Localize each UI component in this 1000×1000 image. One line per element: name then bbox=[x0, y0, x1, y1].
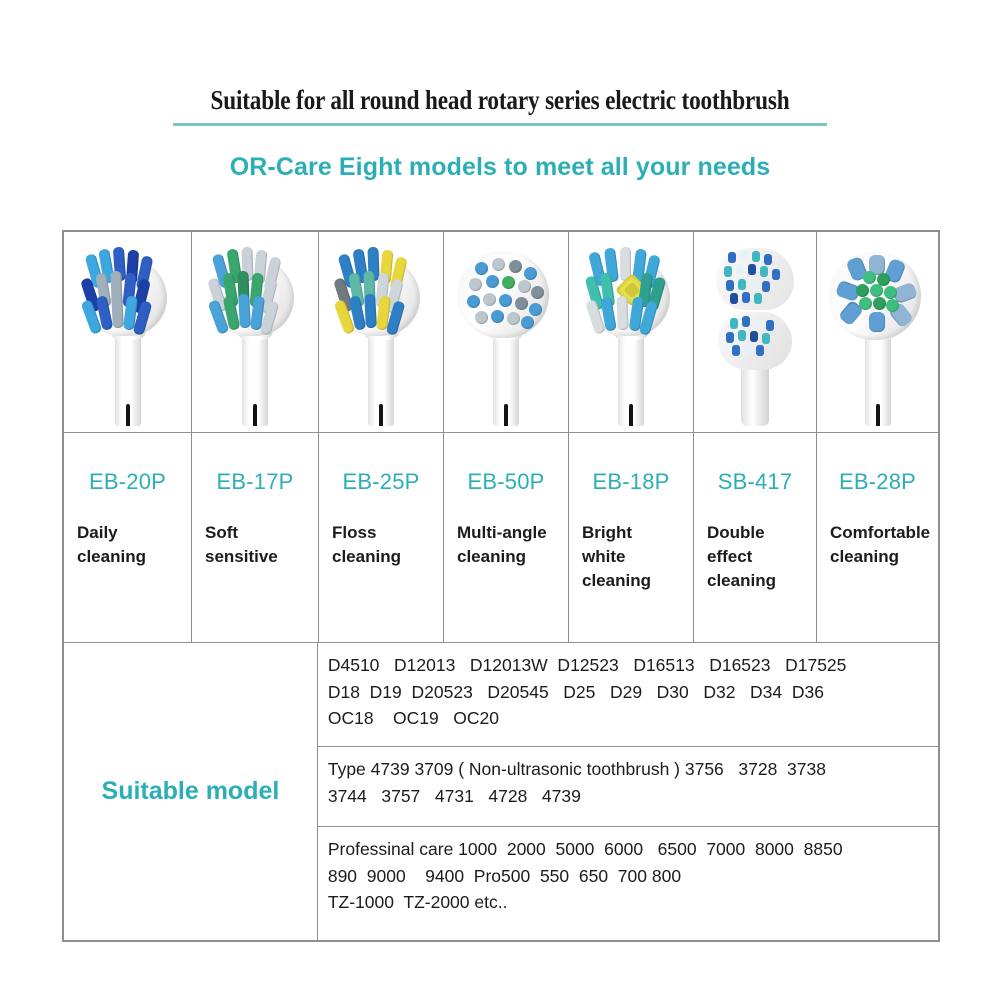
model-desc-line: cleaning bbox=[77, 545, 191, 569]
model-desc-line: cleaning bbox=[582, 569, 693, 593]
model-code-eb-25p: EB-25P bbox=[319, 433, 443, 495]
toothbrush-head-eb-17p-icon bbox=[196, 240, 314, 426]
model-cell-eb-28p: EB-28P Comfortable cleaning bbox=[817, 433, 938, 642]
product-image-cell-eb-28p bbox=[817, 232, 938, 432]
model-desc-line: cleaning bbox=[457, 545, 568, 569]
model-desc-line: sensitive bbox=[205, 545, 318, 569]
model-code-sb-417: SB-417 bbox=[694, 433, 816, 495]
model-desc-line: Floss bbox=[332, 521, 443, 545]
model-cell-eb-20p: EB-20P Daily cleaning bbox=[64, 433, 192, 642]
model-desc-line: effect bbox=[707, 545, 816, 569]
model-code-eb-28p: EB-28P bbox=[817, 433, 938, 495]
model-code-eb-20p: EB-20P bbox=[64, 433, 191, 495]
suitable-model-row: Suitable model D4510 D12013 D12013W D125… bbox=[64, 642, 938, 940]
model-desc-line: Multi-angle bbox=[457, 521, 568, 545]
suitable-model-block-d-series: D4510 D12013 D12013W D12523 D16513 D1652… bbox=[318, 643, 938, 747]
toothbrush-head-sb-417-icon bbox=[696, 240, 814, 426]
model-desc-eb-28p: Comfortable cleaning bbox=[817, 495, 938, 569]
model-desc-eb-20p: Daily cleaning bbox=[64, 495, 191, 569]
model-desc-line: white bbox=[582, 545, 693, 569]
model-desc-line: cleaning bbox=[707, 569, 816, 593]
model-desc-sb-417: Double effect cleaning bbox=[694, 495, 816, 593]
page-title: Suitable for all round head rotary serie… bbox=[70, 0, 930, 114]
model-cell-sb-417: SB-417 Double effect cleaning bbox=[694, 433, 817, 642]
model-code-eb-50p: EB-50P bbox=[444, 433, 568, 495]
headings-block: Suitable for all round head rotary serie… bbox=[0, 0, 1000, 182]
product-image-cell-eb-20p bbox=[64, 232, 192, 432]
model-code-eb-17p: EB-17P bbox=[192, 433, 318, 495]
model-desc-line: Soft bbox=[205, 521, 318, 545]
product-image-cell-eb-17p bbox=[192, 232, 319, 432]
model-desc-line: Bright bbox=[582, 521, 693, 545]
model-cell-eb-17p: EB-17P Soft sensitive bbox=[192, 433, 319, 642]
model-cell-eb-18p: EB-18P Bright white cleaning bbox=[569, 433, 694, 642]
model-desc-line: Double bbox=[707, 521, 816, 545]
product-image-cell-eb-25p bbox=[319, 232, 444, 432]
toothbrush-head-eb-25p-icon bbox=[322, 240, 440, 426]
toothbrush-head-eb-50p-icon bbox=[447, 240, 565, 426]
model-desc-line: Comfortable bbox=[830, 521, 938, 545]
product-model-row: EB-20P Daily cleaning EB-17P Soft sensit… bbox=[64, 432, 938, 642]
model-desc-eb-50p: Multi-angle cleaning bbox=[444, 495, 568, 569]
product-image-cell-sb-417 bbox=[694, 232, 817, 432]
product-image-cell-eb-18p bbox=[569, 232, 694, 432]
product-image-cell-eb-50p bbox=[444, 232, 569, 432]
suitable-model-block-professional-care: Professinal care 1000 2000 5000 6000 650… bbox=[318, 827, 938, 940]
suitable-model-lists: D4510 D12013 D12013W D12523 D16513 D1652… bbox=[318, 643, 938, 940]
model-desc-line: cleaning bbox=[332, 545, 443, 569]
model-desc-eb-17p: Soft sensitive bbox=[192, 495, 318, 569]
toothbrush-head-eb-28p-icon bbox=[819, 240, 937, 426]
toothbrush-head-eb-20p-icon bbox=[69, 240, 187, 426]
toothbrush-head-eb-18p-icon bbox=[572, 240, 690, 426]
model-desc-line: Daily bbox=[77, 521, 191, 545]
suitable-model-block-type-series: Type 4739 3709 ( Non-ultrasonic toothbru… bbox=[318, 747, 938, 827]
model-code-eb-18p: EB-18P bbox=[569, 433, 693, 495]
model-desc-line: cleaning bbox=[830, 545, 938, 569]
product-spec-table: EB-20P Daily cleaning EB-17P Soft sensit… bbox=[62, 230, 940, 942]
model-cell-eb-25p: EB-25P Floss cleaning bbox=[319, 433, 444, 642]
suitable-model-label: Suitable model bbox=[102, 777, 280, 806]
product-image-row bbox=[64, 232, 938, 432]
model-cell-eb-50p: EB-50P Multi-angle cleaning bbox=[444, 433, 569, 642]
page-subtitle: OR-Care Eight models to meet all your ne… bbox=[0, 126, 1000, 182]
model-desc-eb-18p: Bright white cleaning bbox=[569, 495, 693, 593]
suitable-model-label-cell: Suitable model bbox=[64, 643, 318, 940]
model-desc-eb-25p: Floss cleaning bbox=[319, 495, 443, 569]
